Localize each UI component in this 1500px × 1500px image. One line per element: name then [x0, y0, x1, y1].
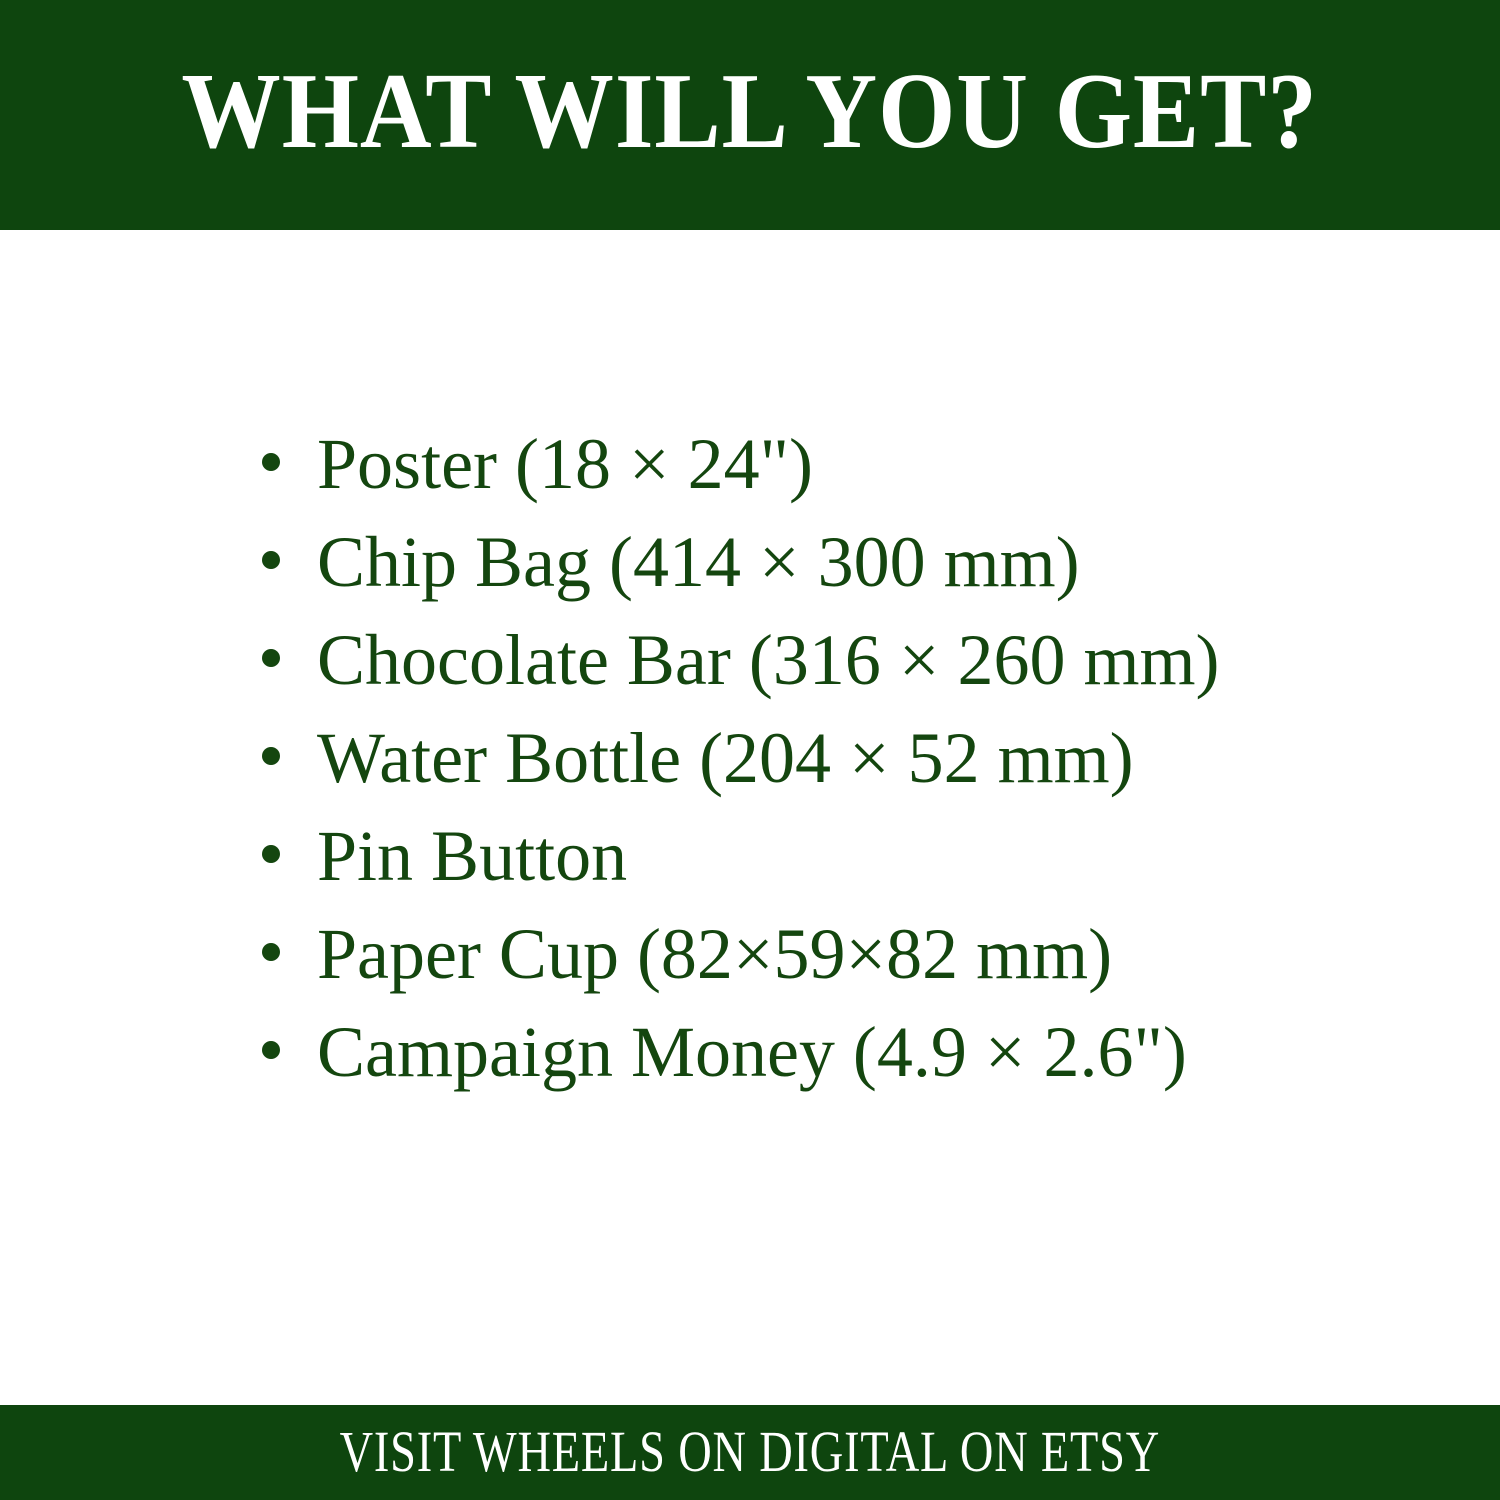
list-item: Campaign Money (4.9 × 2.6")	[262, 1003, 1219, 1101]
list-item: Poster (18 × 24")	[262, 415, 1219, 513]
bullet-dot-icon	[262, 747, 280, 765]
bullet-dot-icon	[262, 943, 280, 961]
list-item-label: Poster (18 × 24")	[317, 415, 813, 513]
main-content: Poster (18 × 24") Chip Bag (414 × 300 mm…	[0, 230, 1500, 1405]
bullet-dot-icon	[262, 453, 280, 471]
list-item-label: Chip Bag (414 × 300 mm)	[317, 513, 1080, 611]
page-title: WHAT WILL YOU GET?	[182, 58, 1319, 166]
header-band: WHAT WILL YOU GET?	[0, 0, 1500, 230]
product-listing-graphic: WHAT WILL YOU GET? Poster (18 × 24") Chi…	[0, 0, 1500, 1500]
footer-shop-callout: VISIT WHEELS ON DIGITAL ON ETSY	[340, 1423, 1161, 1481]
list-item: Pin Button	[262, 807, 1219, 905]
bullet-dot-icon	[262, 1041, 280, 1059]
list-item-label: Water Bottle (204 × 52 mm)	[317, 709, 1134, 807]
included-items-list: Poster (18 × 24") Chip Bag (414 × 300 mm…	[262, 415, 1219, 1101]
list-item-label: Campaign Money (4.9 × 2.6")	[317, 1003, 1187, 1101]
list-item-label: Chocolate Bar (316 × 260 mm)	[317, 611, 1219, 709]
footer-band: VISIT WHEELS ON DIGITAL ON ETSY	[0, 1405, 1500, 1500]
list-item: Paper Cup (82×59×82 mm)	[262, 905, 1219, 1003]
list-item-label: Pin Button	[317, 807, 627, 905]
list-item-label: Paper Cup (82×59×82 mm)	[317, 905, 1112, 1003]
bullet-dot-icon	[262, 551, 280, 569]
bullet-dot-icon	[262, 649, 280, 667]
list-item: Chip Bag (414 × 300 mm)	[262, 513, 1219, 611]
list-item: Water Bottle (204 × 52 mm)	[262, 709, 1219, 807]
list-item: Chocolate Bar (316 × 260 mm)	[262, 611, 1219, 709]
bullet-dot-icon	[262, 845, 280, 863]
